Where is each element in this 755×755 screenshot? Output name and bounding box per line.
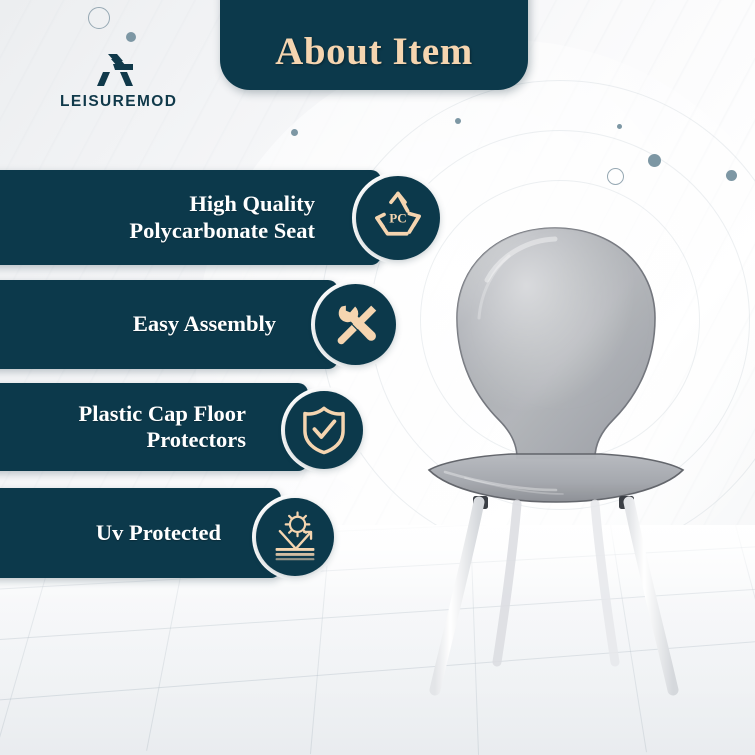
decor-ring-2 <box>607 168 624 185</box>
decor-dot-6 <box>455 118 461 124</box>
wrench-screwdriver-icon <box>315 284 396 365</box>
decor-dot-4 <box>648 154 661 167</box>
feature-icon-wrap-2 <box>311 280 400 369</box>
header-banner: About Item <box>220 0 528 90</box>
decor-dot-3 <box>617 124 622 129</box>
recycle-pc-icon: PC <box>356 176 440 260</box>
feature-icon-wrap-3 <box>281 387 367 473</box>
feature-label: Easy Assembly <box>133 311 276 337</box>
lounge-chair-icon <box>87 52 143 90</box>
wrench-screwdriver-icon-glyph <box>329 298 383 352</box>
page-title: About Item <box>275 29 473 74</box>
feature-label: High Quality Polycarbonate Seat <box>129 191 315 243</box>
shield-check-icon-glyph <box>299 404 349 456</box>
brand-name: LEISUREMOD <box>60 93 177 110</box>
recycle-code-label: PC <box>389 210 406 225</box>
uv-sun-shield-icon-glyph <box>268 510 322 564</box>
feature-icon-wrap-4 <box>252 494 338 580</box>
feature-label: Uv Protected <box>96 520 221 546</box>
product-chair-image <box>405 210 725 710</box>
decor-dot-2 <box>291 129 298 136</box>
feature-bar-uv-protected[interactable]: Uv Protected <box>0 488 281 578</box>
infographic-canvas: About Item LEISUREMOD <box>0 0 755 755</box>
feature-bar-easy-assembly[interactable]: Easy Assembly <box>0 280 338 369</box>
recycle-pc-icon-glyph: PC <box>370 190 426 246</box>
feature-label: Plastic Cap Floor Protectors <box>79 401 246 453</box>
decor-dot-1 <box>126 32 136 42</box>
uv-sun-shield-icon <box>256 498 334 576</box>
shield-check-icon <box>285 391 363 469</box>
decor-ring-1 <box>88 7 110 29</box>
feature-bar-high-quality-polycarbonate-seat[interactable]: High Quality Polycarbonate Seat <box>0 170 381 265</box>
brand-logo: LEISUREMOD <box>60 52 170 111</box>
feature-bar-plastic-cap-floor-protectors[interactable]: Plastic Cap Floor Protectors <box>0 383 308 471</box>
feature-icon-wrap-1: PC <box>352 172 444 264</box>
decor-dot-5 <box>726 170 737 181</box>
